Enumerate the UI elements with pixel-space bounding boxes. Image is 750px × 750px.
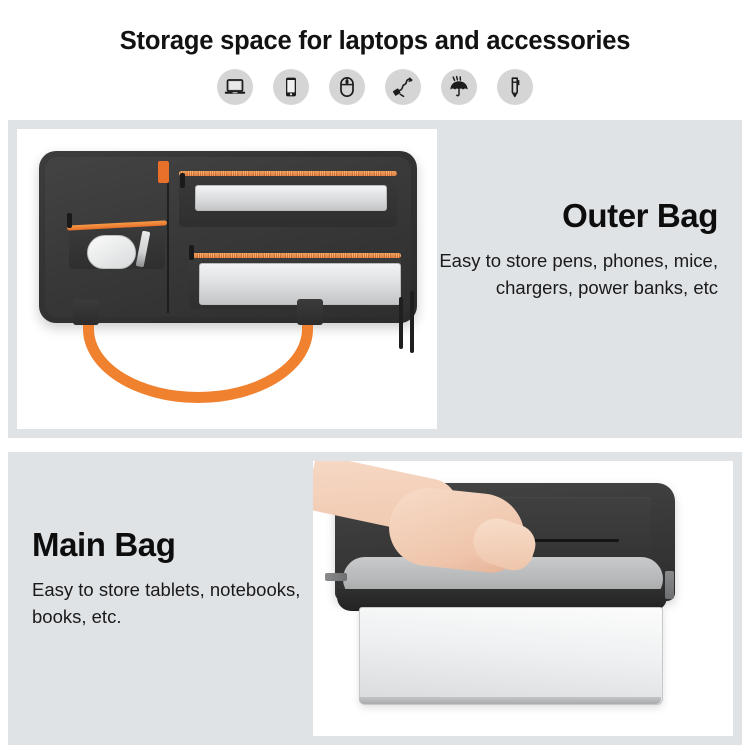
page-title: Storage space for laptops and accessorie… <box>0 27 750 56</box>
umbrella-icon <box>441 69 477 105</box>
laptop-icon <box>217 69 253 105</box>
charger-cable-icon <box>385 69 421 105</box>
mouse-icon <box>329 69 365 105</box>
outer-bag-panel: Outer Bag Easy to store pens, phones, mi… <box>8 120 742 438</box>
laptop-insertion-illustration <box>313 461 733 736</box>
pocket-accessories <box>69 227 165 269</box>
pen-icon <box>497 69 533 105</box>
zipper-pull-tablet <box>180 173 185 188</box>
handle-loop <box>83 307 313 403</box>
main-bag-heading: Main Bag <box>32 527 312 563</box>
main-bag-panel: Main Bag Easy to store tablets, notebook… <box>8 452 742 745</box>
main-bag-body: Easy to store tablets, notebooks, books,… <box>32 577 312 630</box>
zipper-pull-laptop <box>189 245 194 260</box>
main-zipper-a <box>410 291 414 353</box>
outer-bag-heading: Outer Bag <box>418 198 718 234</box>
main-bag-text: Main Bag Easy to store tablets, notebook… <box>32 527 312 630</box>
outer-bag-photo <box>17 129 437 429</box>
zipper-teeth-laptop <box>189 253 401 258</box>
handle-strap-left <box>73 299 99 325</box>
main-bag-photo <box>313 461 733 736</box>
zipper-teeth-tablet <box>179 171 397 176</box>
pen-device <box>136 231 151 268</box>
feature-icon-row <box>0 69 750 105</box>
header: Storage space for laptops and accessorie… <box>0 0 750 118</box>
brand-tab <box>158 161 169 183</box>
phone-icon <box>273 69 309 105</box>
pocket-tablet <box>179 173 397 227</box>
zipper-pull-accessories <box>67 213 72 228</box>
silver-laptop <box>359 607 663 705</box>
bag-flat-lay-illustration <box>39 151 417 373</box>
laptop-front-edge <box>359 697 661 704</box>
carry-handle <box>83 307 313 371</box>
zipper-pull-right <box>665 571 674 599</box>
hand <box>315 465 551 585</box>
bag-seam <box>167 161 169 313</box>
outer-bag-body: Easy to store pens, phones, mice, charge… <box>418 248 718 301</box>
handle-strap-right <box>297 299 323 325</box>
main-zipper-b <box>399 297 403 349</box>
pocket-laptop <box>189 257 401 309</box>
mouse-device <box>87 235 136 269</box>
bag-body <box>39 151 417 323</box>
tablet-device <box>195 185 387 211</box>
outer-bag-text: Outer Bag Easy to store pens, phones, mi… <box>418 198 718 301</box>
